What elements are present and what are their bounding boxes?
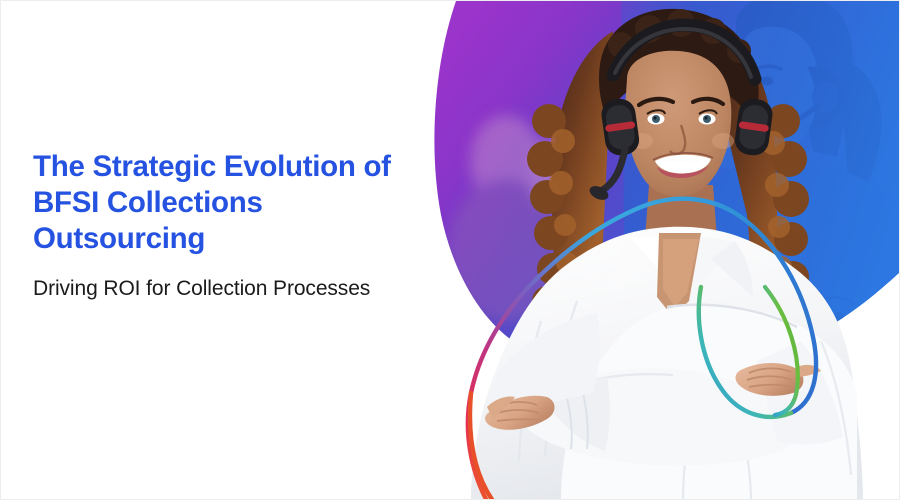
headline-line-1: The Strategic Evolution of xyxy=(33,149,453,185)
hero-text-block: The Strategic Evolution of BFSI Collecti… xyxy=(33,149,453,302)
headline-line-2: BFSI Collections xyxy=(33,185,453,221)
headline-line-3: Outsourcing xyxy=(33,221,453,257)
page-subtitle: Driving ROI for Collection Processes xyxy=(33,276,453,302)
page-title: The Strategic Evolution of BFSI Collecti… xyxy=(33,149,453,257)
marketing-banner: The Strategic Evolution of BFSI Collecti… xyxy=(0,0,900,500)
